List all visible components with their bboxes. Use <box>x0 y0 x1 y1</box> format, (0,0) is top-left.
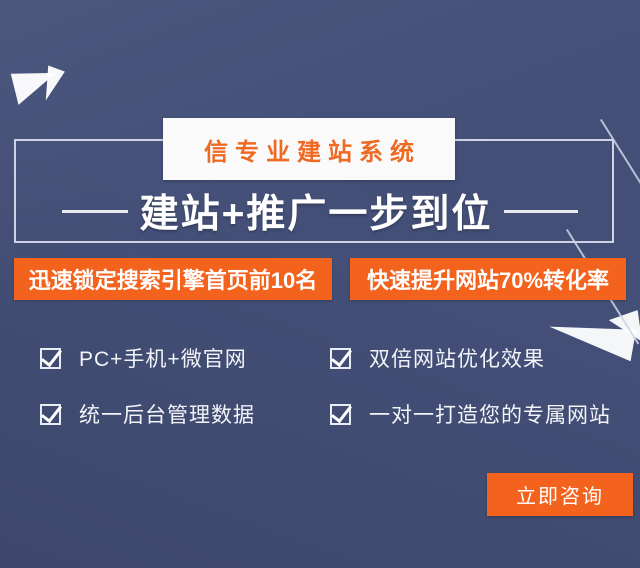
checkbox-checked-icon <box>330 404 351 425</box>
promo-banner: 信专业建站系统 建站+推广一步到位 迅速锁定搜索引擎首页前10名 快速提升网站7… <box>0 0 640 568</box>
feature-label: 统一后台管理数据 <box>79 399 255 429</box>
kicker-text: 信专业建站系统 <box>197 132 421 167</box>
checkbox-checked-icon <box>40 348 61 369</box>
headline-rule-left <box>62 210 128 213</box>
highlight-tag: 快速提升网站70%转化率 <box>350 258 626 300</box>
highlight-tags: 迅速锁定搜索引擎首页前10名 快速提升网站70%转化率 <box>14 258 626 300</box>
kicker-plate: 信专业建站系统 <box>163 118 455 180</box>
feature-item: 统一后台管理数据 <box>40 399 330 429</box>
feature-item: PC+手机+微官网 <box>40 343 330 373</box>
headline-rule-right <box>504 210 578 213</box>
headline-row: 建站+推广一步到位 <box>0 180 640 242</box>
checkbox-checked-icon <box>330 348 351 369</box>
consult-now-button[interactable]: 立即咨询 <box>487 473 633 516</box>
feature-list: PC+手机+微官网 双倍网站优化效果 统一后台管理数据 一对一打造您的专属网站 <box>40 330 640 442</box>
highlight-tag: 迅速锁定搜索引擎首页前10名 <box>14 258 332 300</box>
feature-label: PC+手机+微官网 <box>79 343 247 373</box>
feature-item: 双倍网站优化效果 <box>330 343 630 373</box>
feature-label: 一对一打造您的专属网站 <box>369 399 611 429</box>
paper-plane-icon <box>46 65 65 101</box>
feature-item: 一对一打造您的专属网站 <box>330 399 630 429</box>
checkbox-checked-icon <box>40 404 61 425</box>
feature-label: 双倍网站优化效果 <box>369 343 545 373</box>
page-title: 建站+推广一步到位 <box>140 183 493 239</box>
